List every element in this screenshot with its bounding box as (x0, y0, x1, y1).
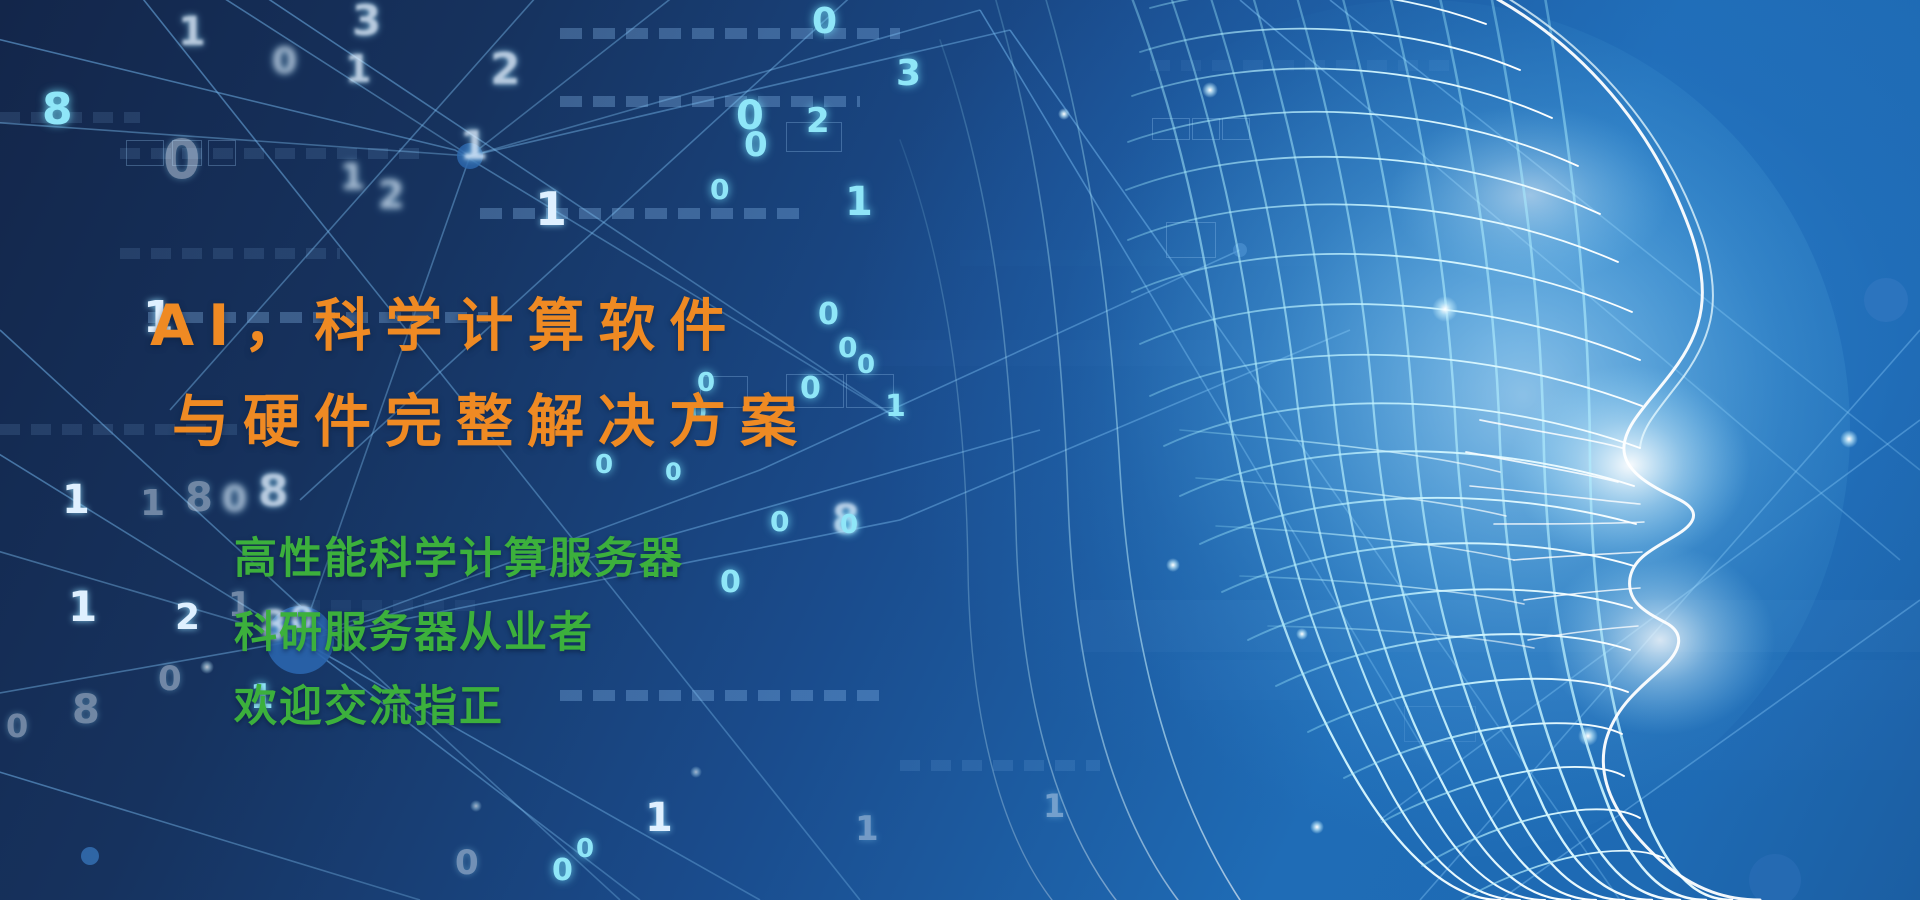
ai-banner: 1301820230001210110001000001181800812108… (0, 0, 1920, 900)
binary-digit: 0 (576, 836, 594, 862)
binary-digit: 1 (845, 182, 873, 222)
bg-band (1420, 630, 1620, 750)
binary-digit: 8 (42, 88, 73, 132)
dash-strip (120, 248, 340, 259)
binary-digit: 1 (645, 798, 673, 838)
sparkle (1202, 82, 1218, 98)
binary-digit: 8 (72, 690, 100, 730)
outline-box (1192, 118, 1220, 140)
dash-strip (900, 760, 1100, 771)
subhead-line-2: 科研服务器从业者 (234, 596, 1130, 670)
sparkle (1058, 108, 1070, 120)
binary-digit: 1 (62, 480, 90, 520)
binary-digit: 1 (68, 586, 97, 628)
binary-digit: 1 (345, 50, 371, 88)
sparkle (1578, 726, 1598, 746)
outline-box (1166, 222, 1216, 258)
binary-digit: 3 (352, 0, 381, 42)
binary-digit: 1 (340, 160, 365, 196)
sparkle (1432, 296, 1458, 322)
outline-box (208, 140, 236, 166)
outline-box (126, 140, 164, 166)
bg-band (960, 250, 1320, 266)
binary-digit: 0 (744, 128, 768, 162)
lip-glow (1545, 545, 1775, 735)
bg-band (1180, 660, 1920, 700)
outline-box (1404, 706, 1476, 742)
bg-band (1350, 700, 1920, 770)
binary-digit: 0 (710, 176, 729, 204)
banner-text: AI，科学计算软件 与硬件完整解决方案 高性能科学计算服务器 科研服务器从业者 … (150, 278, 1130, 744)
dash-strip (560, 28, 900, 39)
outline-box (1222, 118, 1250, 140)
binary-digit: 1 (460, 126, 488, 166)
binary-digit: 0 (736, 96, 764, 136)
binary-digit: 0 (812, 4, 837, 40)
bg-band (1080, 600, 1920, 652)
sparkle (1296, 628, 1308, 640)
binary-digit: 2 (806, 104, 830, 138)
binary-digit: 3 (896, 56, 921, 92)
headline-line-2: 与硬件完整解决方案 (150, 374, 1130, 470)
binary-digit: 0 (552, 856, 573, 886)
binary-digit: 0 (163, 133, 201, 187)
dash-strip (120, 148, 420, 159)
sparkle (690, 766, 702, 778)
sparkle (1166, 558, 1180, 572)
nose-glow (1510, 365, 1750, 565)
sparkle (1840, 430, 1858, 448)
dash-strip (0, 112, 140, 123)
sparkle (470, 800, 482, 812)
binary-digit: 0 (6, 710, 28, 742)
forehead-glow (1390, 105, 1670, 285)
binary-digit: 0 (455, 846, 479, 880)
sparkle (1310, 820, 1324, 834)
binary-digit: 2 (378, 176, 404, 214)
binary-digit: 2 (490, 48, 521, 92)
binary-digit: 1 (178, 12, 206, 52)
binary-digit: 1 (855, 812, 879, 846)
outline-box (786, 122, 842, 152)
dash-strip (1150, 60, 1450, 71)
binary-digit: 1 (1043, 790, 1065, 822)
binary-digit: 1 (535, 186, 567, 232)
headline-line-1: AI，科学计算软件 (150, 278, 1130, 374)
dash-strip (480, 208, 810, 219)
outline-box (1152, 118, 1190, 140)
subhead-block: 高性能科学计算服务器 科研服务器从业者 欢迎交流指正 (150, 522, 1130, 744)
dash-strip (560, 96, 860, 107)
subhead-line-3: 欢迎交流指正 (234, 670, 1130, 744)
binary-digit: 0 (272, 44, 297, 80)
subhead-line-1: 高性能科学计算服务器 (234, 522, 1130, 596)
outline-box (172, 140, 202, 166)
